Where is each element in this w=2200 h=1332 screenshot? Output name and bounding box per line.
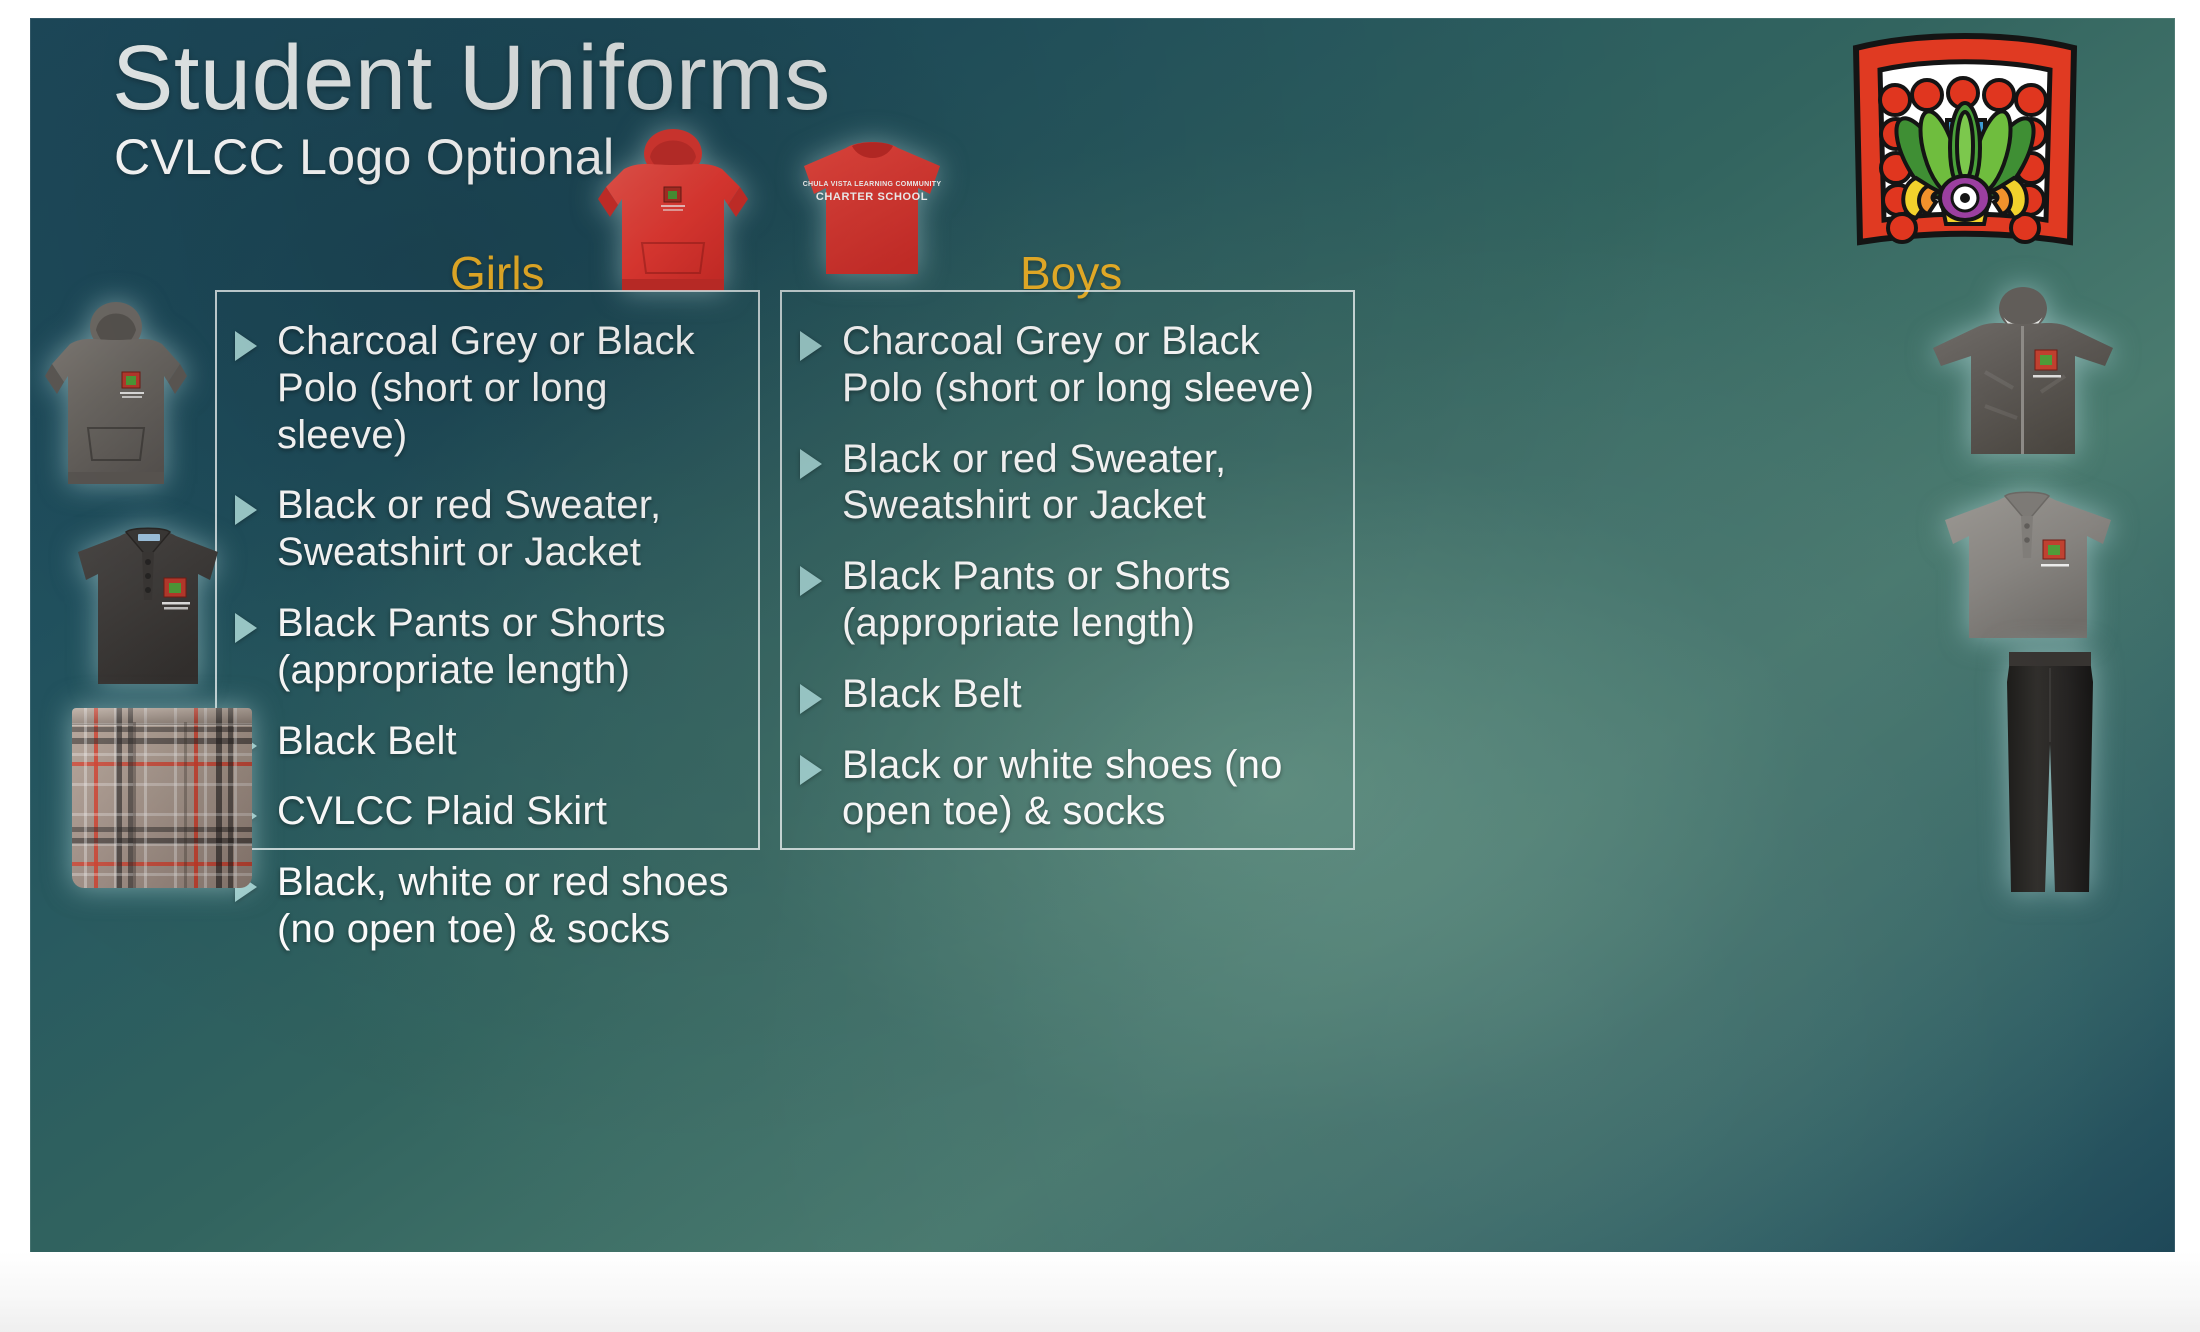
list-item: Black Belt (800, 671, 1331, 718)
triangle-bullet-icon (235, 613, 257, 643)
list-item: Black or red Sweater, Sweatshirt or Jack… (800, 436, 1331, 530)
list-item: Charcoal Grey or Black Polo (short or lo… (235, 318, 736, 458)
cvlcc-aztec-crest-logo (1850, 28, 2080, 253)
list-item: Black, white or red shoes (no open toe) … (235, 859, 736, 953)
svg-text:CHULA VISTA LEARNING COMMUNITY: CHULA VISTA LEARNING COMMUNITY (803, 181, 942, 188)
triangle-bullet-icon (800, 566, 822, 596)
triangle-bullet-icon (235, 331, 257, 361)
list-item-label: Black Pants or Shorts (appropriate lengt… (277, 600, 736, 694)
list-item-label: Charcoal Grey or Black Polo (short or lo… (277, 318, 736, 458)
list-item-label: Black or red Sweater, Sweatshirt or Jack… (277, 482, 736, 576)
triangle-bullet-icon (800, 755, 822, 785)
plaid-skirt-photo (72, 708, 252, 888)
girls-bullet-list: Charcoal Grey or Black Polo (short or lo… (235, 318, 736, 953)
list-item: Black Belt (235, 718, 736, 765)
page-subtitle: CVLCC Logo Optional (114, 130, 614, 185)
list-item-label: Charcoal Grey or Black Polo (short or lo… (842, 318, 1331, 412)
list-item: Black Pants or Shorts (appropriate lengt… (800, 553, 1331, 647)
list-item-label: CVLCC Plaid Skirt (277, 788, 607, 835)
list-item: Black Pants or Shorts (appropriate lengt… (235, 600, 736, 694)
boys-bullet-list: Charcoal Grey or Black Polo (short or lo… (800, 318, 1331, 835)
triangle-bullet-icon (800, 331, 822, 361)
triangle-bullet-icon (800, 449, 822, 479)
girls-uniform-panel: Charcoal Grey or Black Polo (short or lo… (215, 290, 760, 850)
list-item-label: Black or white shoes (no open toe) & soc… (842, 742, 1331, 836)
list-item-label: Black Pants or Shorts (appropriate lengt… (842, 553, 1331, 647)
slide-canvas: Student Uniforms CVLCC Logo Optional (30, 18, 2175, 1258)
list-item-label: Black Belt (277, 718, 457, 765)
grey-jacket-photo (1925, 276, 2120, 466)
list-item: CVLCC Plaid Skirt (235, 788, 736, 835)
list-item-label: Black Belt (842, 671, 1022, 718)
svg-text:CHARTER SCHOOL: CHARTER SCHOOL (816, 191, 928, 203)
triangle-bullet-icon (800, 684, 822, 714)
list-item: Black or white shoes (no open toe) & soc… (800, 742, 1331, 836)
red-tshirt-photo: CHULA VISTA LEARNING COMMUNITY CHARTER S… (790, 136, 955, 281)
list-item: Charcoal Grey or Black Polo (short or lo… (800, 318, 1331, 412)
red-hoodie-photo (588, 113, 758, 298)
list-item-label: Black, white or red shoes (no open toe) … (277, 859, 736, 953)
grey-polo-photo (1935, 486, 2120, 646)
grey-hoodie-photo (38, 288, 193, 493)
boys-uniform-panel: Charcoal Grey or Black Polo (short or lo… (780, 290, 1355, 850)
black-pants-photo (1985, 648, 2115, 898)
list-item-label: Black or red Sweater, Sweatshirt or Jack… (842, 436, 1331, 530)
page-bottom-fade (0, 1252, 2200, 1332)
list-item: Black or red Sweater, Sweatshirt or Jack… (235, 482, 736, 576)
black-polo-photo (68, 518, 228, 693)
triangle-bullet-icon (235, 495, 257, 525)
